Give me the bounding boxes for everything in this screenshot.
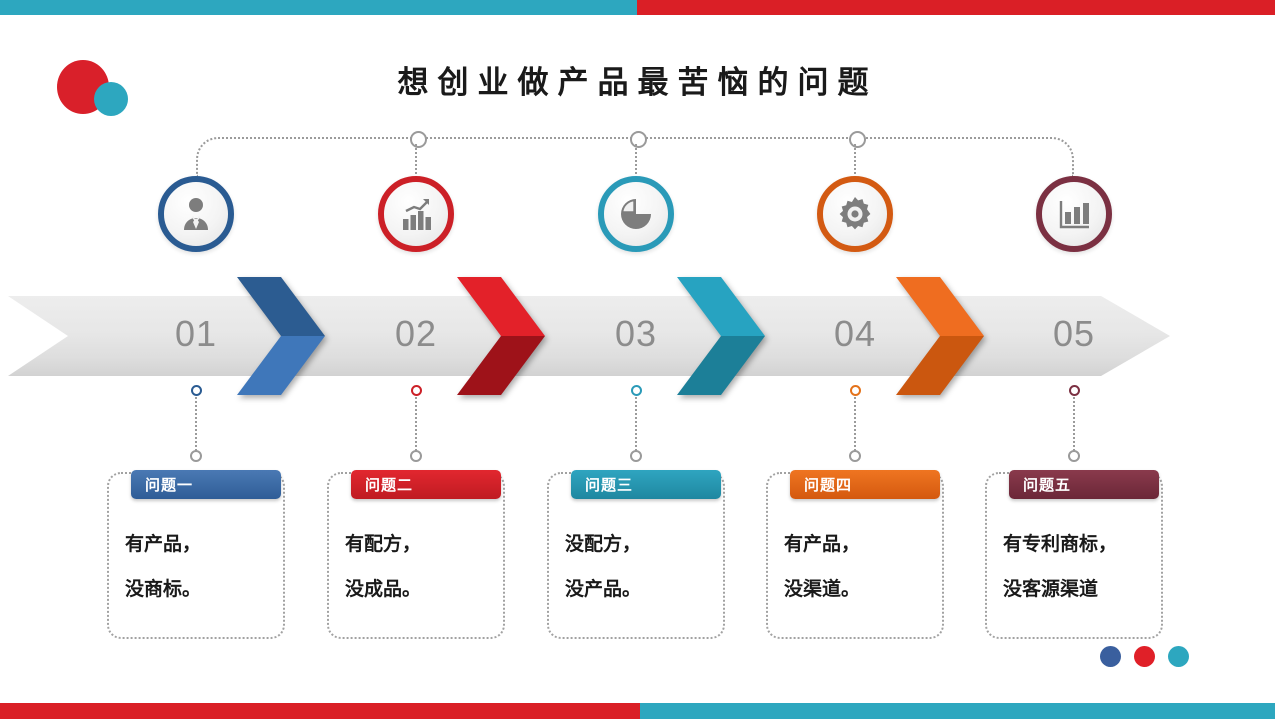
step-number-04: 04 — [810, 313, 900, 355]
step-number-03: 03 — [591, 313, 681, 355]
card-line: 有配方， — [345, 522, 487, 567]
step-stem-01 — [195, 397, 197, 451]
chevron-03 — [677, 277, 765, 395]
card-body-02: 有配方，没成品。 — [329, 522, 503, 612]
card-anchor-01 — [190, 450, 202, 462]
step-icon-05[interactable] — [1036, 176, 1112, 252]
card-line: 没渠道。 — [784, 567, 926, 612]
card-body-03: 没配方，没产品。 — [549, 522, 723, 612]
card-line: 有专利商标， — [1003, 522, 1145, 567]
card-line: 没配方， — [565, 522, 707, 567]
slide-canvas: 想创业做产品最苦恼的问题 0102030405 问题一有产品，没商标。问题二有配… — [0, 0, 1275, 719]
rail-node-04 — [849, 131, 866, 148]
step-number-05: 05 — [1029, 313, 1119, 355]
step-node-01 — [191, 385, 202, 396]
card-line: 没产品。 — [565, 567, 707, 612]
footer-dot-blue — [1100, 646, 1121, 667]
step-number-01: 01 — [151, 313, 241, 355]
step-stem-03 — [635, 397, 637, 451]
bottom-bar-left — [0, 703, 640, 719]
rail-stem-03 — [635, 144, 637, 174]
step-icon-01[interactable] — [158, 176, 234, 252]
step-node-05 — [1069, 385, 1080, 396]
card-badge-label: 问题二 — [351, 474, 413, 495]
chevron-01 — [237, 277, 325, 395]
step-icon-04[interactable] — [817, 176, 893, 252]
step-node-03 — [631, 385, 642, 396]
card-badge-04: 问题四 — [790, 470, 940, 499]
card-line: 没客源渠道 — [1003, 567, 1145, 612]
chevron-02 — [457, 277, 545, 395]
card-badge-label: 问题一 — [131, 474, 193, 495]
problem-card-02[interactable]: 问题二有配方，没成品。 — [327, 472, 505, 639]
problem-card-01[interactable]: 问题一有产品，没商标。 — [107, 472, 285, 639]
step-stem-04 — [854, 397, 856, 451]
problem-card-03[interactable]: 问题三没配方，没产品。 — [547, 472, 725, 639]
card-body-04: 有产品，没渠道。 — [768, 522, 942, 612]
card-body-01: 有产品，没商标。 — [109, 522, 283, 612]
card-badge-05: 问题五 — [1009, 470, 1159, 499]
top-bar-left — [0, 0, 637, 15]
card-anchor-04 — [849, 450, 861, 462]
step-stem-02 — [415, 397, 417, 451]
footer-dot-red — [1134, 646, 1155, 667]
chevron-04 — [896, 277, 984, 395]
pie-chart-icon — [616, 194, 656, 234]
card-anchor-03 — [630, 450, 642, 462]
card-anchor-02 — [410, 450, 422, 462]
card-badge-03: 问题三 — [571, 470, 721, 499]
growth-bar-chart-icon — [397, 195, 435, 233]
footer-dot-teal — [1168, 646, 1189, 667]
rail-stem-04 — [854, 144, 856, 174]
page-title: 想创业做产品最苦恼的问题 — [0, 57, 1275, 102]
step-icon-03[interactable] — [598, 176, 674, 252]
step-icon-02[interactable] — [378, 176, 454, 252]
bottom-bar-right — [640, 703, 1275, 719]
card-line: 有产品， — [784, 522, 926, 567]
top-bar-right — [637, 0, 1275, 15]
gear-icon — [835, 194, 875, 234]
card-badge-label: 问题四 — [790, 474, 852, 495]
businessman-icon — [176, 194, 216, 234]
rail-node-03 — [630, 131, 647, 148]
bar-chart-icon — [1055, 195, 1093, 233]
card-line: 有产品， — [125, 522, 267, 567]
card-badge-01: 问题一 — [131, 470, 281, 499]
card-badge-label: 问题三 — [571, 474, 633, 495]
card-line: 没商标。 — [125, 567, 267, 612]
step-node-04 — [850, 385, 861, 396]
card-body-05: 有专利商标，没客源渠道 — [987, 522, 1161, 612]
problem-card-05[interactable]: 问题五有专利商标，没客源渠道 — [985, 472, 1163, 639]
card-badge-label: 问题五 — [1009, 474, 1071, 495]
card-anchor-05 — [1068, 450, 1080, 462]
step-number-02: 02 — [371, 313, 461, 355]
step-stem-05 — [1073, 397, 1075, 451]
step-node-02 — [411, 385, 422, 396]
problem-card-04[interactable]: 问题四有产品，没渠道。 — [766, 472, 944, 639]
card-line: 没成品。 — [345, 567, 487, 612]
card-badge-02: 问题二 — [351, 470, 501, 499]
rail-node-02 — [410, 131, 427, 148]
rail-stem-02 — [415, 144, 417, 174]
footer-dots — [1100, 646, 1189, 667]
